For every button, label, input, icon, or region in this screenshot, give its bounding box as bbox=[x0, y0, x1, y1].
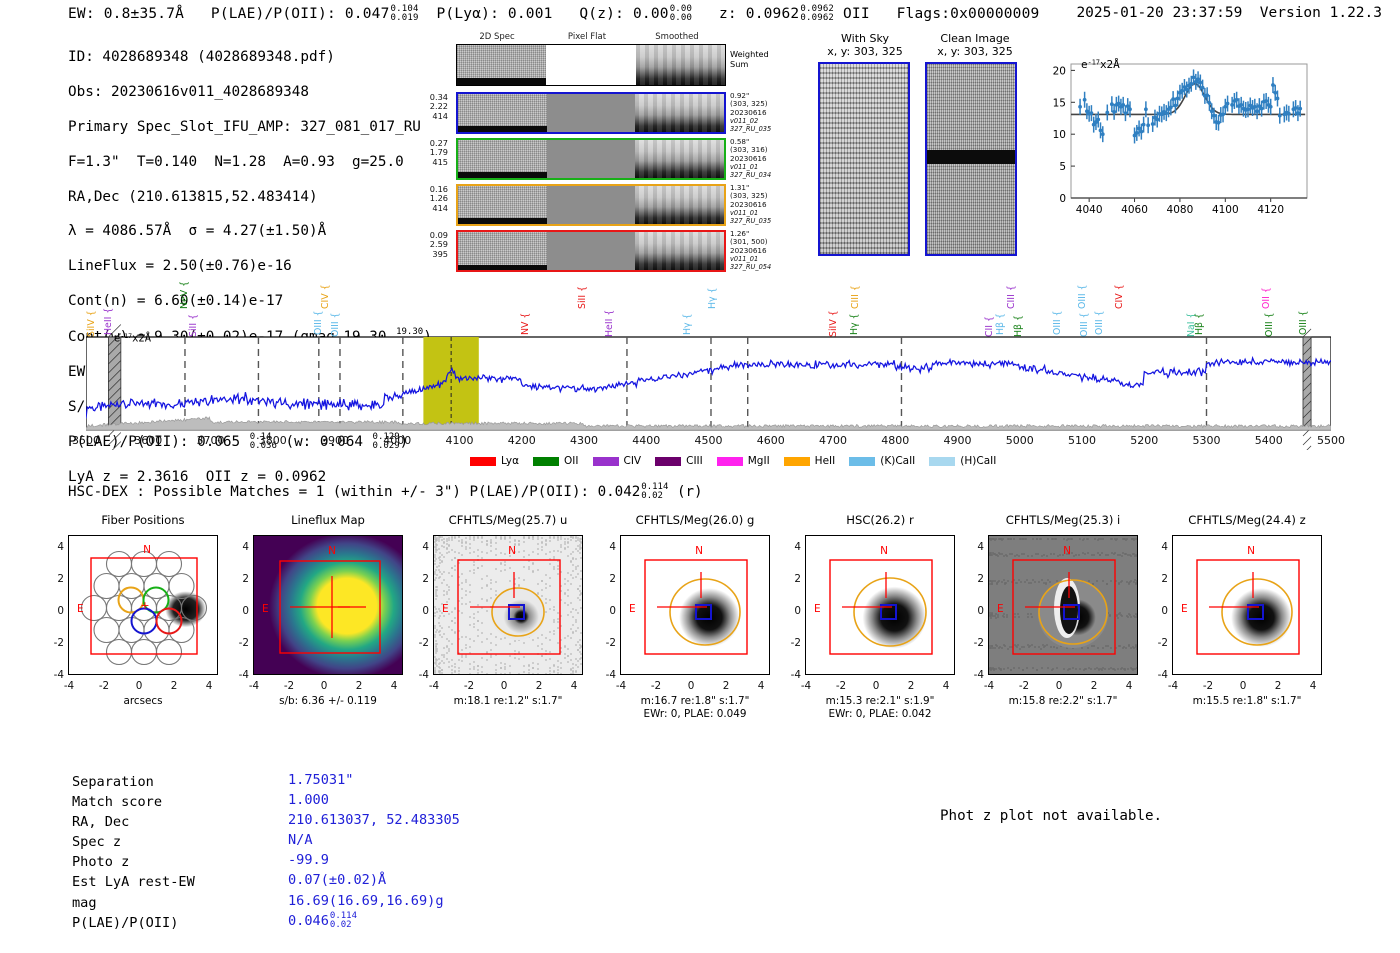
spectrum-line-label: Hβ { bbox=[1194, 299, 1205, 335]
spectrum-x-tick: 5200 bbox=[1122, 434, 1166, 447]
spec2d-cell-pixelflat bbox=[547, 140, 636, 178]
svg-text:E: E bbox=[997, 603, 1004, 615]
legend-label: HeII bbox=[815, 455, 836, 467]
panel-y-tick: 2 bbox=[411, 573, 429, 585]
header-summary: EW: 0.8±35.7Å P(LAE)/P(OII): 0.0470.1040… bbox=[68, 5, 1039, 23]
footer-key: Est LyA rest-EW bbox=[72, 872, 195, 892]
image-panel-u[interactable]: N E bbox=[433, 535, 583, 675]
legend-item: CIV bbox=[593, 455, 642, 467]
panel-x-tick: 0 bbox=[128, 680, 150, 692]
panel-x-tick: -4 bbox=[243, 680, 265, 692]
spec2d-cell-smoothed bbox=[635, 232, 724, 270]
header-ew: EW: 0.8±35.7Å bbox=[68, 6, 184, 22]
spec2d-weighted-2dspec bbox=[457, 45, 546, 85]
cutout-r-svg: N E bbox=[806, 536, 955, 675]
panel-x-tick: -2 bbox=[830, 680, 852, 692]
spec2d-weighted-pixelflat bbox=[546, 45, 635, 85]
header-plya: P(Lyα): 0.001 bbox=[436, 6, 552, 22]
panel-x-tick: -4 bbox=[58, 680, 80, 692]
spec2d-cell-pixelflat bbox=[547, 94, 636, 132]
image-panel-title: Lineflux Map bbox=[233, 513, 423, 527]
header-plae-label: P(LAE)/P(OII): bbox=[211, 6, 336, 22]
header-plae-value: 0.047 bbox=[345, 6, 390, 22]
spec2d-cell-pixelflat bbox=[547, 232, 636, 270]
panel-x-tick: 4 bbox=[750, 680, 772, 692]
panel-x-tick: 4 bbox=[383, 680, 405, 692]
image-panel-caption: m:18.1 re:1.2" s:1.7" bbox=[405, 695, 611, 708]
line-fit-units-annotation: e-17x2Å bbox=[1081, 58, 1120, 71]
legend-swatch bbox=[717, 457, 743, 466]
cutout-z-svg: N E bbox=[1173, 536, 1322, 675]
spectrum-x-tick: 4200 bbox=[500, 434, 544, 447]
info-line-seeing: F=1.3" T=0.140 N=1.28 A=0.93 g=25.0 bbox=[68, 154, 432, 171]
image-panel-fiber[interactable]: + N E bbox=[68, 535, 218, 675]
legend-swatch bbox=[784, 457, 810, 466]
panel-y-tick: 0 bbox=[783, 605, 801, 617]
info-line-primary-spec: Primary Spec_Slot_IFU_AMP: 327_081_017_R… bbox=[68, 119, 432, 136]
legend-swatch bbox=[929, 457, 955, 466]
image-panel-r[interactable]: N E bbox=[805, 535, 955, 675]
spectrum-line-label: NV { bbox=[520, 299, 531, 335]
image-panel-caption: s/b: 6.36 +/- 0.119 bbox=[225, 695, 431, 708]
svg-text:4120: 4120 bbox=[1257, 204, 1284, 216]
spectrum-x-tick: 4500 bbox=[687, 434, 731, 447]
spectrum-line-label: OIII { bbox=[1079, 301, 1090, 337]
image-panel-caption: m:16.7 re:1.8" s:1.7"EWr: 0, PLAE: 0.049 bbox=[592, 695, 798, 720]
panel-y-tick: -2 bbox=[966, 637, 984, 649]
panel-caption-line1: m:15.5 re:1.8" s:1.7" bbox=[1144, 695, 1350, 708]
footer-value: 1.75031" bbox=[288, 770, 460, 790]
footer-key: P(LAE)/P(OII) bbox=[72, 913, 195, 933]
image-panel-z[interactable]: N E bbox=[1172, 535, 1322, 675]
header-z-lo: 0.0962 bbox=[800, 14, 834, 23]
panel-x-tick: 2 bbox=[1083, 680, 1105, 692]
footer-key: Match score bbox=[72, 792, 195, 812]
panel-caption-line1: arcsecs bbox=[40, 695, 246, 708]
panel-x-tick: -2 bbox=[278, 680, 300, 692]
image-panel-title: CFHTLS/Meg(25.3) i bbox=[968, 513, 1158, 527]
spectrum-line-label: CIV { bbox=[1114, 273, 1125, 309]
svg-text:N: N bbox=[1247, 545, 1255, 557]
panel-caption-line1: m:16.7 re:1.8" s:1.7" bbox=[592, 695, 798, 708]
spec2d-row-right-values: 1.26"(301, 500)20230616v011_01327_RU_054 bbox=[730, 230, 778, 271]
panel-x-tick: 4 bbox=[563, 680, 585, 692]
spectrum-line-label: OIII { bbox=[1298, 299, 1309, 335]
panel-y-tick: 2 bbox=[598, 573, 616, 585]
image-panel-caption: m:15.8 re:2.2" s:1.7" bbox=[960, 695, 1166, 708]
svg-text:4080: 4080 bbox=[1167, 204, 1194, 216]
cutout-u-svg: N E bbox=[434, 536, 583, 675]
panel-caption-line2: EWr: 0, PLAE: 0.042 bbox=[777, 708, 983, 721]
spectrum-line-label: SiII { bbox=[188, 301, 199, 337]
spectrum-x-tick: 3500 bbox=[64, 434, 108, 447]
legend-item: Lyα bbox=[470, 455, 519, 467]
panel-x-tick: -4 bbox=[978, 680, 1000, 692]
panel-x-tick: 0 bbox=[493, 680, 515, 692]
image-panel-lineflux[interactable]: N E bbox=[253, 535, 403, 675]
svg-text:0: 0 bbox=[1059, 193, 1066, 205]
panel-caption-line1: m:15.8 re:2.2" s:1.7" bbox=[960, 695, 1166, 708]
panel-x-tick: 2 bbox=[163, 680, 185, 692]
spec2d-row-right-values: 0.92"(303, 325)20230616v011_02327_RU_035 bbox=[730, 92, 778, 133]
spectrum-x-tick: 4400 bbox=[624, 434, 668, 447]
spectrum-x-tick: 5300 bbox=[1185, 434, 1229, 447]
svg-text:N: N bbox=[1063, 545, 1071, 557]
photoz-note: Phot z plot not available. bbox=[940, 808, 1162, 824]
spec2d-panel: 2D Spec Pixel Flat Smoothed Weighted Sum… bbox=[420, 32, 750, 257]
spectrum-line-label: HeII { bbox=[103, 299, 114, 335]
panel-y-tick: 0 bbox=[966, 605, 984, 617]
spec2d-row-right-values: 1.31"(303, 325)20230616v011_01327_RU_035 bbox=[730, 184, 778, 225]
spec2d-cell-2dspec bbox=[458, 140, 547, 178]
legend-item: HeII bbox=[784, 455, 836, 467]
image-panel-title: CFHTLS/Meg(25.7) u bbox=[413, 513, 603, 527]
hsc-dex-lo: 0.02 bbox=[641, 492, 668, 501]
cutout-sky-image bbox=[818, 62, 910, 256]
spectrum-legend: LyαOIICIVCIIIMgIIHeII(K)CaII(H)CaII bbox=[470, 455, 996, 467]
panel-x-tick: 4 bbox=[1118, 680, 1140, 692]
full-spectrum-chart: 1020 e-17x2Å SiIV {HeII {NeV {SiII {OIII… bbox=[86, 275, 1331, 450]
spec2d-cell-2dspec bbox=[458, 186, 547, 224]
legend-swatch bbox=[470, 457, 496, 466]
panel-caption-line2: EWr: 0, PLAE: 0.049 bbox=[592, 708, 798, 721]
legend-item: MgII bbox=[717, 455, 770, 467]
image-panel-caption: m:15.5 re:1.8" s:1.7" bbox=[1144, 695, 1350, 708]
spec2d-fiber-row bbox=[456, 138, 726, 180]
panel-caption-line1: m:15.3 re:2.1" s:1.9" bbox=[777, 695, 983, 708]
panel-y-tick: 2 bbox=[966, 573, 984, 585]
svg-text:N: N bbox=[143, 544, 151, 556]
spectrum-units-annotation: e-17x2Å bbox=[114, 332, 151, 344]
svg-text:10: 10 bbox=[1053, 129, 1066, 141]
spectrum-x-tick: 3800 bbox=[251, 434, 295, 447]
image-panel-title: CFHTLS/Meg(26.0) g bbox=[600, 513, 790, 527]
spectrum-x-tick: 4100 bbox=[438, 434, 482, 447]
panel-x-tick: -4 bbox=[795, 680, 817, 692]
panel-x-tick: 2 bbox=[528, 680, 550, 692]
panel-y-tick: 0 bbox=[411, 605, 429, 617]
panel-x-tick: -2 bbox=[458, 680, 480, 692]
header-meta: 2025-01-20 23:37:59 Version 1.22.3 bbox=[1076, 5, 1382, 21]
spectrum-x-tick: 4700 bbox=[811, 434, 855, 447]
spectrum-x-tick: 4900 bbox=[936, 434, 980, 447]
spectrum-line-label: Hγ { bbox=[707, 273, 718, 309]
spectrum-line-label: Hβ { bbox=[1013, 301, 1024, 337]
legend-label: (K)CaII bbox=[880, 455, 915, 467]
panel-y-tick: 0 bbox=[1150, 605, 1168, 617]
spectrum-line-label: SiIV { bbox=[828, 301, 839, 337]
spectrum-line-label: OIII { bbox=[1094, 299, 1105, 335]
panel-y-tick: 4 bbox=[783, 541, 801, 553]
spectrum-x-tick: 3600 bbox=[126, 434, 170, 447]
spec2d-fiber-row bbox=[456, 92, 726, 134]
header-z: z: 0.0962 bbox=[719, 6, 799, 22]
spec2d-col-smoothed: Smoothed bbox=[632, 32, 722, 42]
svg-text:4040: 4040 bbox=[1076, 204, 1103, 216]
footer-values: 1.75031"1.000210.613037, 52.483305N/A-99… bbox=[288, 770, 460, 931]
legend-label: CIV bbox=[624, 455, 642, 467]
svg-text:E: E bbox=[814, 603, 821, 615]
cutout-sky-xy: x, y: 303, 325 bbox=[815, 45, 915, 58]
svg-text:E: E bbox=[262, 603, 269, 615]
footer-key: RA, Dec bbox=[72, 812, 195, 832]
svg-text:E: E bbox=[1181, 603, 1188, 615]
legend-swatch bbox=[849, 457, 875, 466]
spectrum-x-tick: 5000 bbox=[998, 434, 1042, 447]
header-flags: Flags:0x00000009 bbox=[897, 6, 1040, 22]
cutout-i-svg: N E bbox=[989, 536, 1138, 675]
panel-x-tick: -4 bbox=[423, 680, 445, 692]
panel-x-tick: -2 bbox=[645, 680, 667, 692]
spec2d-col-2dspec: 2D Spec bbox=[452, 32, 542, 42]
panel-y-tick: 4 bbox=[966, 541, 984, 553]
panel-caption-line1: m:18.1 re:1.2" s:1.7" bbox=[405, 695, 611, 708]
svg-text:E: E bbox=[77, 603, 84, 615]
spectrum-line-label: CIII { bbox=[850, 273, 861, 309]
hsc-dex-prefix: HSC-DEX : Possible Matches = 1 (within +… bbox=[68, 484, 640, 500]
panel-x-tick: 0 bbox=[865, 680, 887, 692]
legend-swatch bbox=[593, 457, 619, 466]
spectrum-x-tick: 4600 bbox=[749, 434, 793, 447]
panel-x-tick: 0 bbox=[680, 680, 702, 692]
spectrum-x-tick: 5100 bbox=[1060, 434, 1104, 447]
panel-y-tick: 4 bbox=[1150, 541, 1168, 553]
spectrum-line-label: SiIV { bbox=[86, 301, 97, 337]
svg-text:E: E bbox=[629, 603, 636, 615]
spec2d-fiber-row bbox=[456, 230, 726, 272]
spectrum-x-tick: 4300 bbox=[562, 434, 606, 447]
info-line-lineflux: LineFlux = 2.50(±0.76)e-16 bbox=[68, 258, 432, 275]
panel-x-tick: 4 bbox=[198, 680, 220, 692]
panel-y-tick: 4 bbox=[231, 541, 249, 553]
info-line-radec: RA,Dec (210.613815,52.483414) bbox=[68, 189, 432, 206]
spec2d-weighted-smoothed bbox=[636, 45, 725, 85]
info-line-wavelength: λ = 4086.57Å σ = 4.27(±1.50)Å bbox=[68, 223, 432, 240]
legend-label: MgII bbox=[748, 455, 770, 467]
panel-x-tick: -4 bbox=[1162, 680, 1184, 692]
spec2d-cell-smoothed bbox=[635, 186, 724, 224]
spec2d-cell-pixelflat bbox=[547, 186, 636, 224]
line-fit-svg: 0510152040404060408041004120 bbox=[1035, 50, 1315, 230]
panel-y-tick: 0 bbox=[46, 605, 64, 617]
panel-x-tick: 2 bbox=[715, 680, 737, 692]
svg-text:4100: 4100 bbox=[1212, 204, 1239, 216]
spectrum-x-tick: 4000 bbox=[375, 434, 419, 447]
image-panel-title: HSC(26.2) r bbox=[785, 513, 975, 527]
spec2d-row-right-values: 0.58"(303, 316)20230616v011_01327_RU_034 bbox=[730, 138, 778, 179]
panel-x-tick: 0 bbox=[313, 680, 335, 692]
spectrum-line-label: OIII { bbox=[330, 301, 341, 337]
spectrum-line-label: OIII { bbox=[1264, 301, 1275, 337]
footer-value: N/A bbox=[288, 830, 460, 850]
svg-text:N: N bbox=[508, 545, 516, 557]
spectrum-line-label: SiII { bbox=[577, 273, 588, 309]
legend-label: Lyα bbox=[501, 455, 519, 467]
footer-value: -99.9 bbox=[288, 850, 460, 870]
spectrum-line-label: HeII { bbox=[604, 301, 615, 337]
panel-x-tick: -2 bbox=[1197, 680, 1219, 692]
panel-y-tick: -2 bbox=[411, 637, 429, 649]
legend-item: (K)CaII bbox=[849, 455, 915, 467]
legend-item: (H)CaII bbox=[929, 455, 996, 467]
panel-y-tick: -2 bbox=[1150, 637, 1168, 649]
spec2d-row-left-values: 0.342.22414 bbox=[418, 93, 448, 121]
info-line-obs: Obs: 20230616v011_4028689348 bbox=[68, 84, 432, 101]
spec2d-fiber-row bbox=[456, 184, 726, 226]
legend-swatch bbox=[533, 457, 559, 466]
cutout-g-svg: N E bbox=[621, 536, 770, 675]
footer-key: mag bbox=[72, 893, 195, 913]
spec2d-weighted-sum-label: Weighted Sum bbox=[730, 50, 769, 69]
footer-value: 210.613037, 52.483305 bbox=[288, 810, 460, 830]
image-panel-i[interactable]: N E bbox=[988, 535, 1138, 675]
spec2d-row-left-values: 0.092.59395 bbox=[418, 231, 448, 259]
panel-y-tick: 4 bbox=[411, 541, 429, 553]
info-line-id: ID: 4028689348 (4028689348.pdf) bbox=[68, 49, 432, 66]
cutout-clean-xy: x, y: 303, 325 bbox=[920, 45, 1030, 58]
cutout-clean-image bbox=[925, 62, 1017, 256]
svg-text:20: 20 bbox=[1053, 65, 1066, 77]
cutout-clean-title: Clean Image bbox=[920, 32, 1030, 45]
footer-value: 0.07(±0.02)Å bbox=[288, 870, 460, 890]
panel-y-tick: 4 bbox=[598, 541, 616, 553]
legend-item: CIII bbox=[655, 455, 703, 467]
panel-y-tick: 0 bbox=[598, 605, 616, 617]
svg-text:5: 5 bbox=[1059, 161, 1066, 173]
spectrum-line-label: CII { bbox=[984, 301, 995, 337]
footer-value: 1.000 bbox=[288, 790, 460, 810]
spec2d-row-left-values: 0.161.26414 bbox=[418, 185, 448, 213]
panel-x-tick: 0 bbox=[1048, 680, 1070, 692]
panel-y-tick: -2 bbox=[598, 637, 616, 649]
panel-x-tick: 4 bbox=[935, 680, 957, 692]
hsc-dex-suffix: (r) bbox=[677, 484, 703, 500]
footer-key: Separation bbox=[72, 772, 195, 792]
panel-x-tick: -4 bbox=[610, 680, 632, 692]
fiber-positions-svg: + N E bbox=[69, 536, 218, 675]
lineflux-map-svg: N E bbox=[254, 536, 403, 675]
footer-value: 0.0460.1140.02 bbox=[288, 911, 460, 931]
header-qz-lo: 0.00 bbox=[670, 14, 692, 23]
spec2d-weighted-row bbox=[456, 44, 726, 86]
panel-x-tick: 2 bbox=[900, 680, 922, 692]
spectrum-line-label: Hγ { bbox=[682, 299, 693, 335]
panel-y-tick: 2 bbox=[231, 573, 249, 585]
svg-text:4060: 4060 bbox=[1121, 204, 1148, 216]
footer-key: Spec z bbox=[72, 832, 195, 852]
image-panel-g[interactable]: N E bbox=[620, 535, 770, 675]
emission-line-fit-chart: 0510152040404060408041004120 e-17x2Å bbox=[1035, 50, 1315, 230]
spectrum-line-label: OIII { bbox=[1052, 299, 1063, 335]
legend-label: OII bbox=[564, 455, 578, 467]
panel-y-tick: 2 bbox=[46, 573, 64, 585]
svg-text:N: N bbox=[328, 545, 336, 557]
header-version: Version 1.22.3 bbox=[1260, 5, 1382, 21]
panel-x-tick: -2 bbox=[1013, 680, 1035, 692]
footer-key: Photo z bbox=[72, 852, 195, 872]
footer-plae-lo: 0.02 bbox=[330, 921, 357, 930]
spec2d-cell-smoothed bbox=[635, 140, 724, 178]
panel-y-tick: 2 bbox=[1150, 573, 1168, 585]
legend-swatch bbox=[655, 457, 681, 466]
panel-y-tick: -2 bbox=[46, 637, 64, 649]
header-z-species: OII bbox=[843, 6, 870, 22]
spectrum-line-label: Hβ { bbox=[995, 299, 1006, 335]
legend-label: (H)CaII bbox=[960, 455, 996, 467]
panel-y-tick: -2 bbox=[231, 637, 249, 649]
svg-text:+: + bbox=[140, 599, 149, 612]
spec2d-cell-2dspec bbox=[458, 94, 547, 132]
hsc-dex-summary: HSC-DEX : Possible Matches = 1 (within +… bbox=[68, 483, 703, 501]
panel-y-tick: 4 bbox=[46, 541, 64, 553]
spectrum-x-tick: 5400 bbox=[1247, 434, 1291, 447]
cutout-sky-title: With Sky bbox=[815, 32, 915, 45]
footer-value: 16.69(16.69,16.69)g bbox=[288, 891, 460, 911]
image-panel-caption: arcsecs bbox=[40, 695, 246, 708]
svg-text:15: 15 bbox=[1053, 97, 1066, 109]
spectrum-x-tick: 4800 bbox=[873, 434, 917, 447]
panel-x-tick: 0 bbox=[1232, 680, 1254, 692]
panel-y-tick: 2 bbox=[783, 573, 801, 585]
footer-keys: SeparationMatch scoreRA, DecSpec zPhoto … bbox=[72, 772, 195, 933]
header-qz: Q(z): 0.00 bbox=[579, 6, 668, 22]
panel-y-tick: -2 bbox=[783, 637, 801, 649]
legend-label: CIII bbox=[686, 455, 703, 467]
svg-text:N: N bbox=[695, 545, 703, 557]
header-plae-lo: 0.019 bbox=[391, 14, 419, 23]
legend-item: OII bbox=[533, 455, 578, 467]
panel-y-tick: 0 bbox=[231, 605, 249, 617]
svg-text:N: N bbox=[880, 545, 888, 557]
panel-x-tick: 4 bbox=[1302, 680, 1324, 692]
panel-caption-line1: s/b: 6.36 +/- 0.119 bbox=[225, 695, 431, 708]
panel-x-tick: 2 bbox=[348, 680, 370, 692]
svg-text:E: E bbox=[442, 603, 449, 615]
image-panel-caption: m:15.3 re:2.1" s:1.9"EWr: 0, PLAE: 0.042 bbox=[777, 695, 983, 720]
spec2d-row-left-values: 0.271.79415 bbox=[418, 139, 448, 167]
panel-x-tick: 2 bbox=[1267, 680, 1289, 692]
panel-x-tick: -2 bbox=[93, 680, 115, 692]
spec2d-cell-smoothed bbox=[635, 94, 724, 132]
spec2d-col-pixelflat: Pixel Flat bbox=[542, 32, 632, 42]
image-panel-title: CFHTLS/Meg(24.4) z bbox=[1152, 513, 1342, 527]
header-timestamp: 2025-01-20 23:37:59 bbox=[1076, 5, 1242, 21]
image-panel-title: Fiber Positions bbox=[48, 513, 238, 527]
spectrum-x-tick: 3700 bbox=[189, 434, 233, 447]
spectrum-x-tick: 5500 bbox=[1309, 434, 1353, 447]
spectrum-x-tick: 3900 bbox=[313, 434, 357, 447]
spec2d-cell-2dspec bbox=[458, 232, 547, 270]
